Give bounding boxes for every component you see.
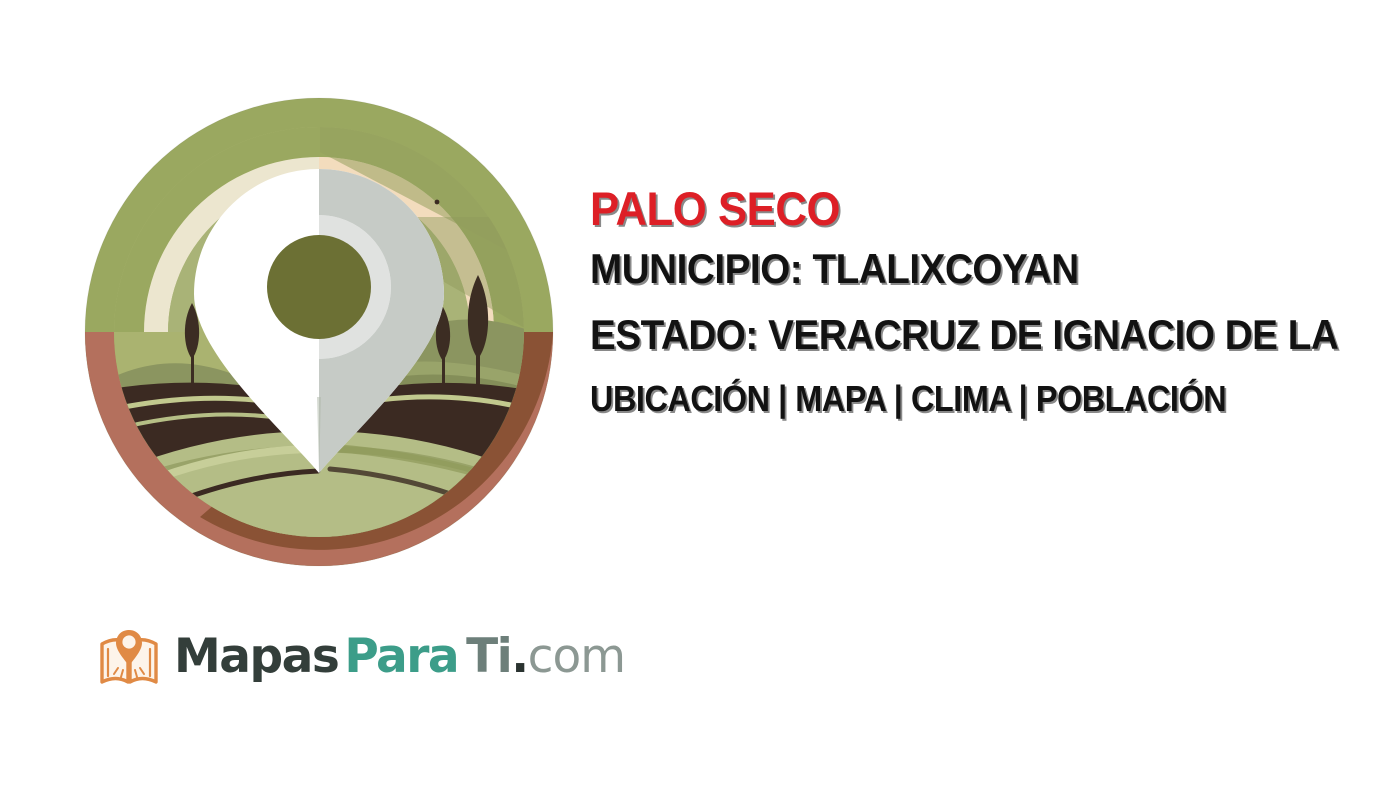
municipio-label: MUNICIPIO: TLALIXCOYAN: [590, 236, 1344, 302]
wordmark-dot: .: [511, 629, 527, 684]
map-pin-hole: [267, 235, 371, 339]
brand-wordmark: MapasParaTi.com: [174, 633, 625, 680]
wordmark-ti: Ti: [466, 629, 511, 684]
page-root: PALO SECO MUNICIPIO: TLALIXCOYAN ESTADO:…: [0, 0, 1400, 786]
badge-svg: [80, 97, 558, 567]
section-nav-links[interactable]: UBICACIÓN | MAPA | CLIMA | POBLACIÓN: [590, 368, 1328, 430]
page-title: PALO SECO: [590, 182, 1353, 236]
circular-landscape-badge-illustration: [80, 97, 558, 567]
wordmark-mapas: Mapas: [174, 629, 338, 684]
brand-logo[interactable]: MapasParaTi.com: [98, 618, 558, 694]
place-info-block: PALO SECO MUNICIPIO: TLALIXCOYAN ESTADO:…: [590, 182, 1400, 430]
open-book-with-location-pin-icon: [98, 622, 160, 690]
estado-label: ESTADO: VERACRUZ DE IGNACIO DE LA: [590, 302, 1344, 368]
decorative-speck: [435, 200, 440, 205]
wordmark-para: Para: [344, 629, 458, 684]
wordmark-com: com: [528, 629, 625, 684]
badge-scene: [80, 97, 558, 567]
